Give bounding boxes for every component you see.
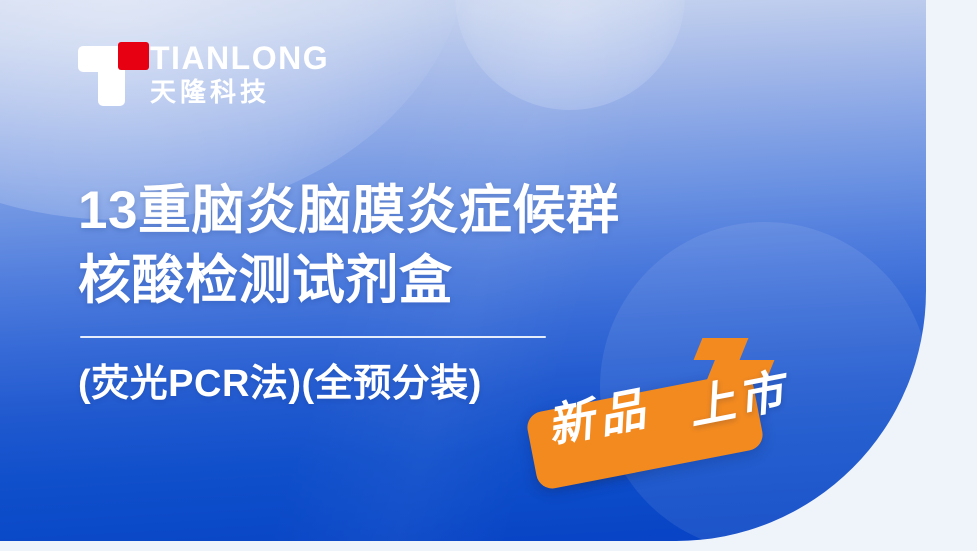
blue-panel: TIANLONG 天隆科技 13重脑炎脑膜炎症候群 核酸检测试剂盒 (荧光PCR…	[0, 0, 926, 541]
subtitle: (荧光PCR法)(全预分装)	[78, 360, 482, 409]
product-banner: TIANLONG 天隆科技 13重脑炎脑膜炎症候群 核酸检测试剂盒 (荧光PCR…	[0, 0, 977, 551]
headline: 13重脑炎脑膜炎症候群 核酸检测试剂盒	[78, 176, 619, 317]
headline-divider	[80, 336, 546, 338]
brand-name-cn: 天隆科技	[150, 78, 329, 108]
new-product-badge: 新品 上市	[520, 334, 860, 504]
headline-line-1: 13重脑炎脑膜炎症候群	[78, 176, 619, 246]
tianlong-t-mark-icon	[78, 38, 136, 106]
background-glow-circle	[455, 0, 685, 110]
t-mark-red-square	[118, 42, 149, 70]
brand-wordmark: TIANLONG 天隆科技	[150, 38, 329, 108]
headline-line-2: 核酸检测试剂盒	[78, 246, 619, 316]
brand-logo: TIANLONG 天隆科技	[78, 38, 329, 108]
brand-name-en: TIANLONG	[150, 42, 329, 74]
spark-block-a	[694, 338, 749, 360]
